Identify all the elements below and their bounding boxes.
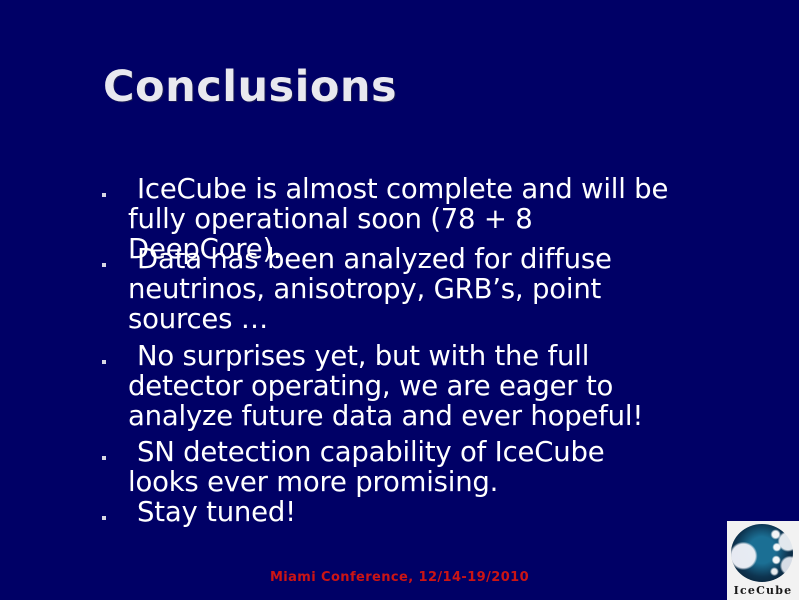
- bullet-line: looks ever more promising.: [128, 466, 498, 498]
- bullet-dot-icon: [102, 456, 106, 460]
- bullet-text: Stay tuned!: [128, 497, 758, 527]
- bullet-text: No surprises yet, but with the full dete…: [128, 341, 758, 431]
- bullet-line: detector operating, we are eager to: [128, 370, 613, 402]
- bullet-text: Data has been analyzed for diffuse neutr…: [128, 244, 758, 334]
- bullet-line: IceCube is almost complete and will be: [128, 173, 668, 205]
- bullet-line: analyze future data and ever hopeful!: [128, 400, 643, 432]
- icecube-sphere-icon: [731, 524, 793, 582]
- bullet-line: neutrinos, anisotropy, GRB’s, point: [128, 273, 601, 305]
- bullet-line: sources …: [128, 303, 268, 335]
- presentation-slide: Conclusions IceCube is almost complete a…: [0, 0, 799, 600]
- bullet-line: Data has been analyzed for diffuse: [128, 243, 612, 275]
- bullet-dot-icon: [102, 360, 106, 364]
- bullet-dot-icon: [102, 516, 106, 520]
- page-title: Conclusions: [103, 62, 397, 112]
- bullet-line: No surprises yet, but with the full: [128, 340, 589, 372]
- icecube-logo-caption: IceCube: [727, 584, 799, 597]
- bullet-dot-icon: [102, 263, 106, 267]
- bullet-dot-icon: [102, 193, 106, 197]
- footer-conference-note: Miami Conference, 12/14-19/2010: [0, 570, 799, 585]
- bullet-line: fully operational soon (78 + 8: [128, 203, 533, 235]
- icecube-logo: IceCube: [727, 521, 799, 600]
- bullet-line: SN detection capability of IceCube: [128, 436, 604, 468]
- bullet-text: SN detection capability of IceCube looks…: [128, 437, 758, 497]
- bullet-line: Stay tuned!: [128, 496, 296, 528]
